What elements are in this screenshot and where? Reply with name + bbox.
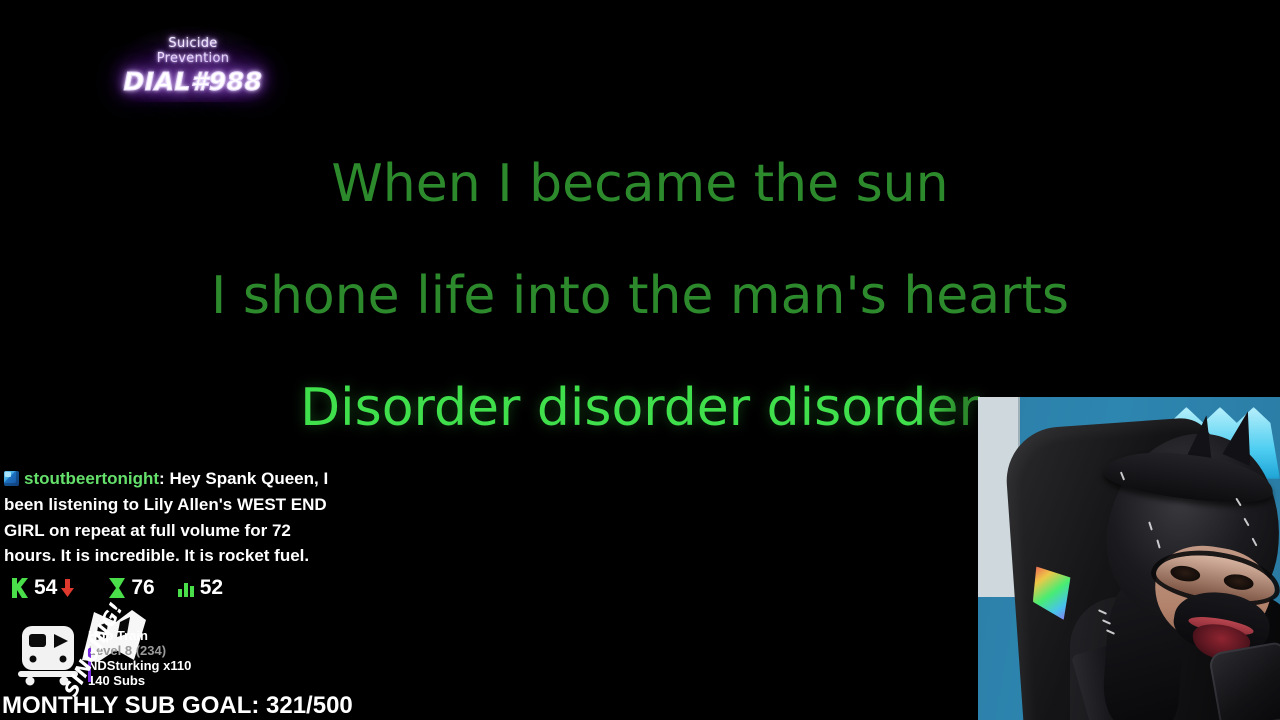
stat-viewers-value: 54 xyxy=(34,576,57,600)
stat-chart: 52 xyxy=(177,576,223,600)
psa-line-1: Suicide xyxy=(108,37,278,50)
cube-badge-icon xyxy=(4,471,19,486)
chat-username[interactable]: stoutbeertonight xyxy=(24,469,159,488)
hop-train-contributor: NDSturking x110 xyxy=(88,658,191,673)
chat-message: stoutbeertonight: Hey Spank Queen, I bee… xyxy=(4,466,344,569)
hourglass-icon xyxy=(107,577,127,599)
streamer-webcam[interactable] xyxy=(978,397,1280,720)
bar-chart-icon xyxy=(177,578,196,598)
stat-viewers: 54 xyxy=(10,576,74,600)
hop-train-widget: Hop Train Level 8 (234) NDSturking x110 … xyxy=(6,608,246,696)
stat-followers-value: 76 xyxy=(131,576,154,600)
chat-separator: : xyxy=(159,469,165,488)
stream-overlay-canvas: Suicide Prevention DIAL#988 When I becam… xyxy=(0,0,1280,720)
stream-stats-row: 54 76 xyxy=(10,576,223,600)
lyric-line-past-2: I shone life into the man's hearts xyxy=(0,268,1280,324)
psa-dial-number: DIAL#988 xyxy=(108,69,278,95)
psa-line-2: Prevention xyxy=(108,52,278,65)
stat-chart-value: 52 xyxy=(200,576,223,600)
hop-train-subs: 140 Subs xyxy=(88,673,191,688)
suicide-prevention-logo: Suicide Prevention DIAL#988 xyxy=(108,26,278,102)
eye-right xyxy=(1223,572,1255,592)
eye-left xyxy=(1169,564,1201,584)
arrow-down-icon xyxy=(61,579,74,597)
stat-followers: 76 xyxy=(107,576,154,600)
microphone xyxy=(1208,641,1280,720)
lyric-line-past-1: When I became the sun xyxy=(0,156,1280,212)
monthly-sub-goal: MONTHLY SUB GOAL: 321/500 xyxy=(2,692,353,720)
kick-logo-icon xyxy=(10,577,30,599)
